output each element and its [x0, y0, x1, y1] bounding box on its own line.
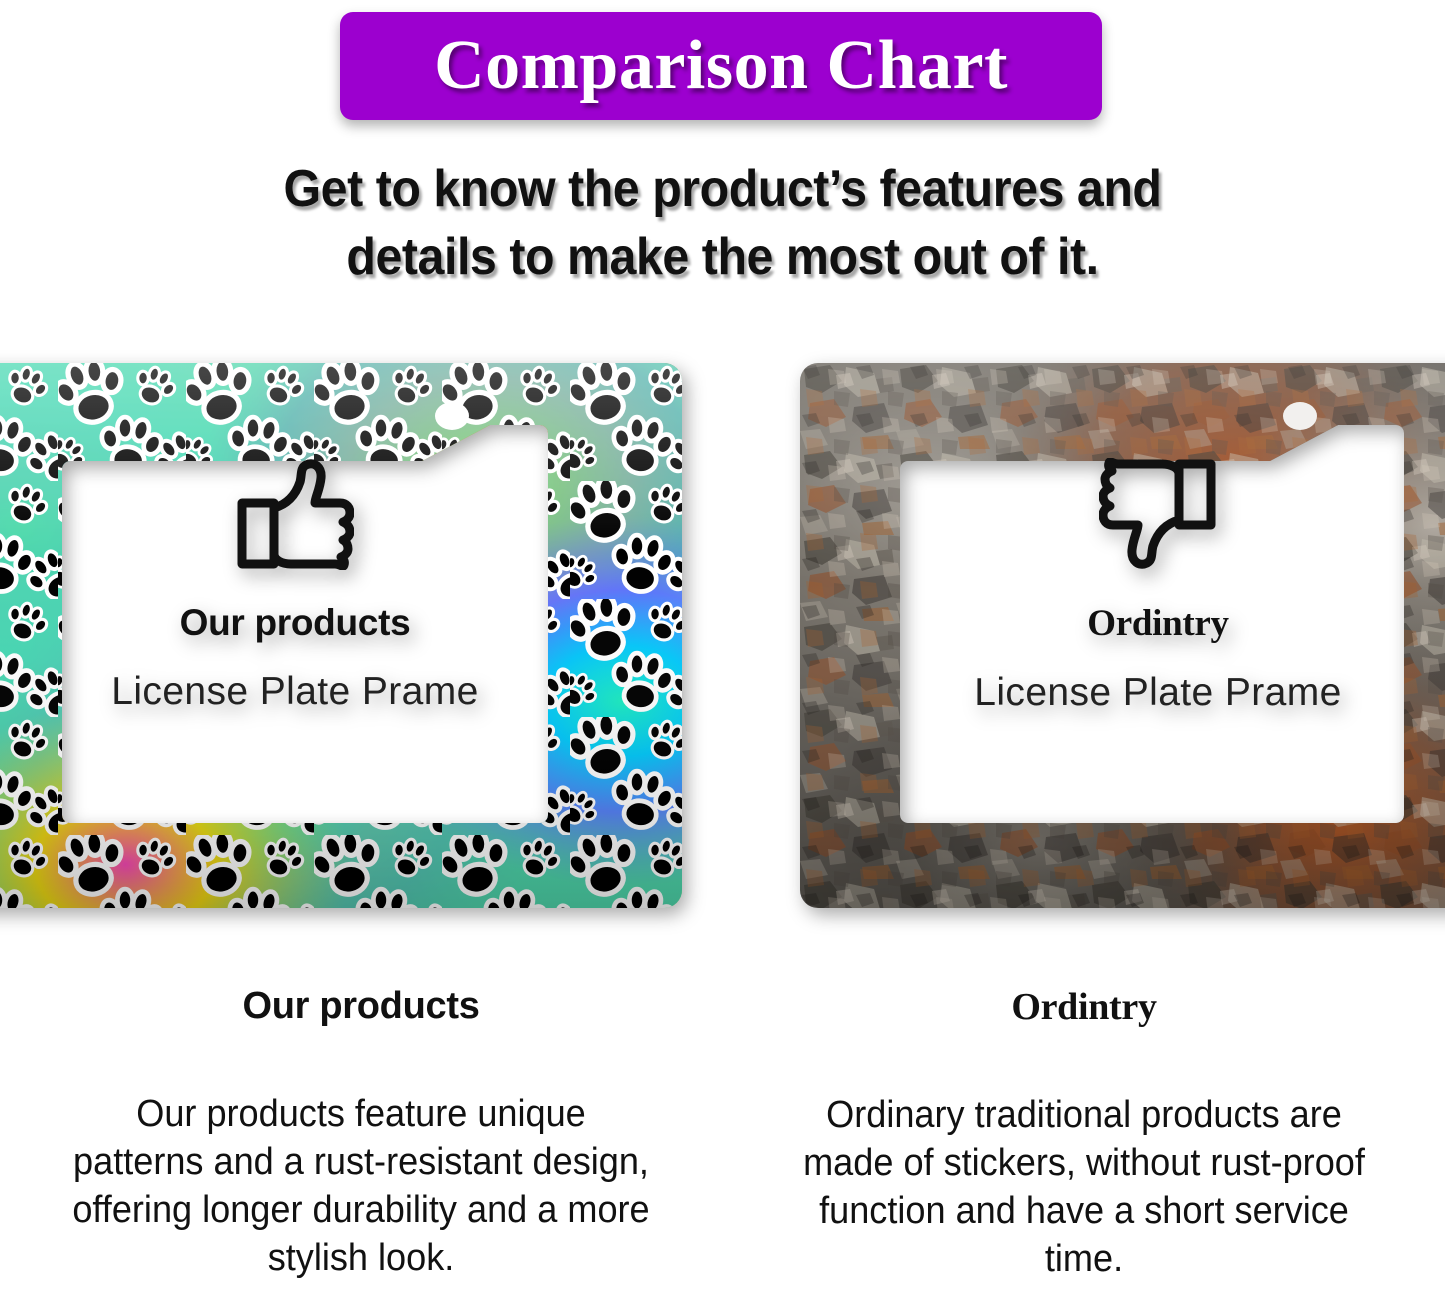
rusted-license-plate-frame: [800, 363, 1445, 908]
tie-dye-paw-license-plate-frame: [0, 363, 682, 908]
our-product-frame: Our products License Plate Prame: [0, 363, 682, 908]
our-product-summary-title: Our products: [0, 985, 722, 1028]
ordinary-product-frame: Ordintry License Plate Prame: [800, 363, 1445, 908]
subtitle-line-1: Get to know the product’s features and: [51, 155, 1395, 223]
ordinary-product-summary-body: Ordinary traditional products are made o…: [741, 1091, 1427, 1283]
subtitle-line-2: details to make the most out of it.: [51, 223, 1395, 291]
ordinary-product-summary-title: Ordintry: [723, 985, 1445, 1029]
mounting-hole: [435, 402, 469, 430]
ordinary-product-summary: Ordintry Ordinary traditional products a…: [723, 985, 1445, 1283]
page-title: Comparison Chart: [434, 26, 1008, 106]
comparison-chart-page: Comparison Chart Get to know the product…: [0, 0, 1445, 1314]
our-product-summary-body: Our products feature unique patterns and…: [18, 1090, 704, 1282]
title-banner: Comparison Chart: [340, 12, 1102, 120]
mounting-hole: [1283, 402, 1317, 430]
summary-row: Our products Our products feature unique…: [0, 985, 1445, 1314]
frame-comparison-row: Our products License Plate Prame: [0, 363, 1445, 908]
our-product-summary: Our products Our products feature unique…: [0, 985, 722, 1282]
page-subtitle: Get to know the product’s features and d…: [51, 155, 1395, 291]
